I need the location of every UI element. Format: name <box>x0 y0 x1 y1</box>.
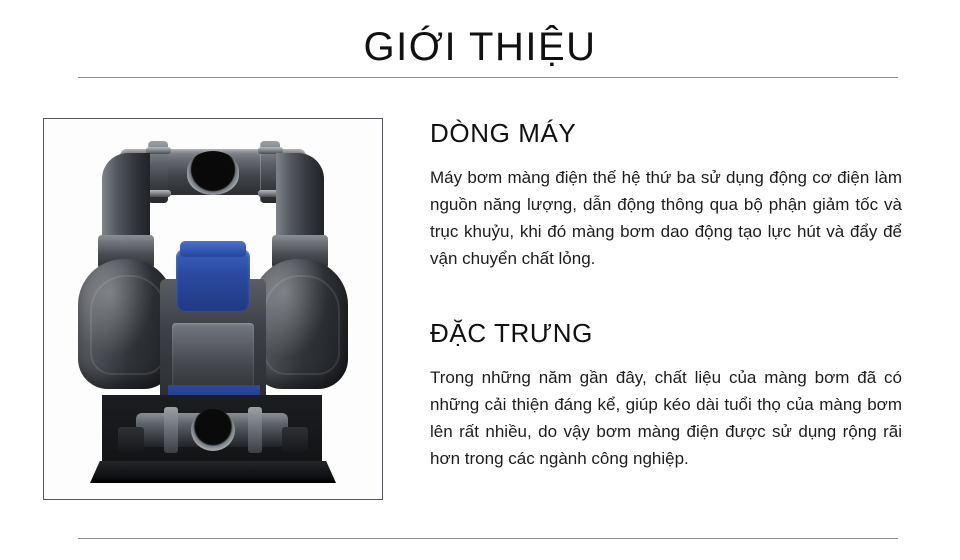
motor-terminal-cap <box>180 241 246 257</box>
section-dac-trung: ĐẶC TRƯNG Trong những năm gần đây, chất … <box>430 318 902 472</box>
mounting-foot-right <box>282 427 308 451</box>
top-clamp-left <box>148 141 168 203</box>
section-spacer <box>430 272 902 318</box>
section-heading: DÒNG MÁY <box>430 118 902 148</box>
center-cover-plate <box>172 323 254 393</box>
bottom-outlet-port <box>191 409 235 451</box>
bottom-clamp-right <box>248 407 262 453</box>
section-body: Máy bơm màng điện thế hệ thứ ba sử dụng … <box>430 164 902 272</box>
divider-bottom <box>78 538 898 539</box>
product-photo <box>44 119 382 499</box>
diaphragm-pump-illustration <box>68 127 358 495</box>
section-body: Trong những năm gần đây, chất liệu của m… <box>430 364 902 472</box>
electric-motor-housing <box>176 249 250 311</box>
product-image-frame <box>43 118 383 500</box>
top-inlet-bore <box>197 158 229 188</box>
pump-chamber-right <box>252 259 348 389</box>
base-plate <box>90 461 336 483</box>
divider-top <box>78 77 898 78</box>
mounting-foot-left <box>118 427 144 451</box>
page-title: GIỚI THIỆU <box>0 24 960 70</box>
section-heading: ĐẶC TRƯNG <box>430 318 902 348</box>
content-column: DÒNG MÁY Máy bơm màng điện thế hệ thứ ba… <box>430 118 902 472</box>
section-dong-may: DÒNG MÁY Máy bơm màng điện thế hệ thứ ba… <box>430 118 902 272</box>
bottom-clamp-left <box>164 407 178 453</box>
